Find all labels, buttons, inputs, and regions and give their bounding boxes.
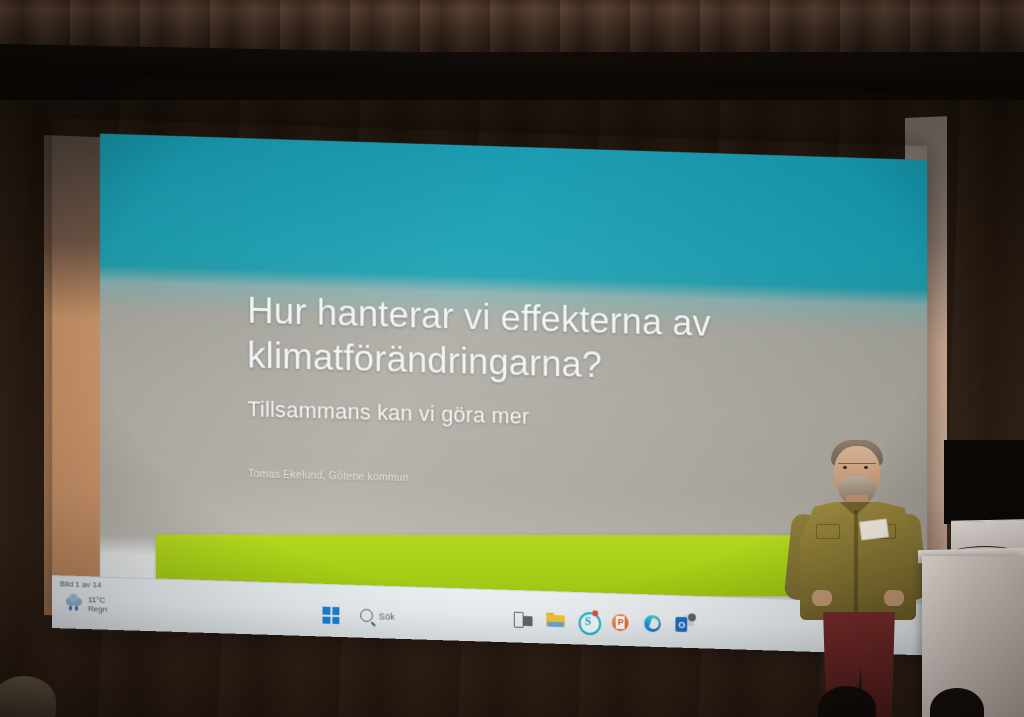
search-placeholder: Sök [379, 611, 395, 621]
weather-condition: Regn [88, 605, 107, 615]
presenter-eye-left [843, 466, 847, 469]
outlook-icon[interactable] [674, 614, 695, 635]
search-input[interactable]: Sök [360, 609, 395, 623]
rain-cloud-icon [66, 597, 83, 613]
presenter-hand-right [884, 590, 904, 606]
stage-photo: Hur hanterar vi effekterna av klimatförä… [0, 0, 1024, 717]
curtain-top [0, 0, 1024, 52]
search-icon [360, 609, 373, 622]
presenter-placket [854, 510, 858, 614]
start-button[interactable] [323, 607, 340, 624]
skype-icon[interactable]: S [578, 611, 599, 632]
slide-title: Hur hanterar vi effekterna av klimatförä… [247, 288, 836, 394]
presenter-eye-right [864, 466, 868, 469]
name-badge [859, 518, 889, 540]
powerpoint-icon[interactable] [610, 612, 631, 633]
weather-widget[interactable]: 11°C Regn [66, 595, 107, 614]
folder-icon[interactable] [545, 610, 566, 631]
slide-counter: Bild 1 av 14 [60, 579, 102, 589]
shirt-pocket-left [816, 524, 840, 539]
edge-icon[interactable] [642, 613, 663, 634]
taskbar-app-tray: S [513, 609, 695, 636]
backdrop-gap [944, 440, 1024, 524]
task-view-icon[interactable] [513, 609, 534, 630]
presenter-hand-left [812, 590, 832, 606]
